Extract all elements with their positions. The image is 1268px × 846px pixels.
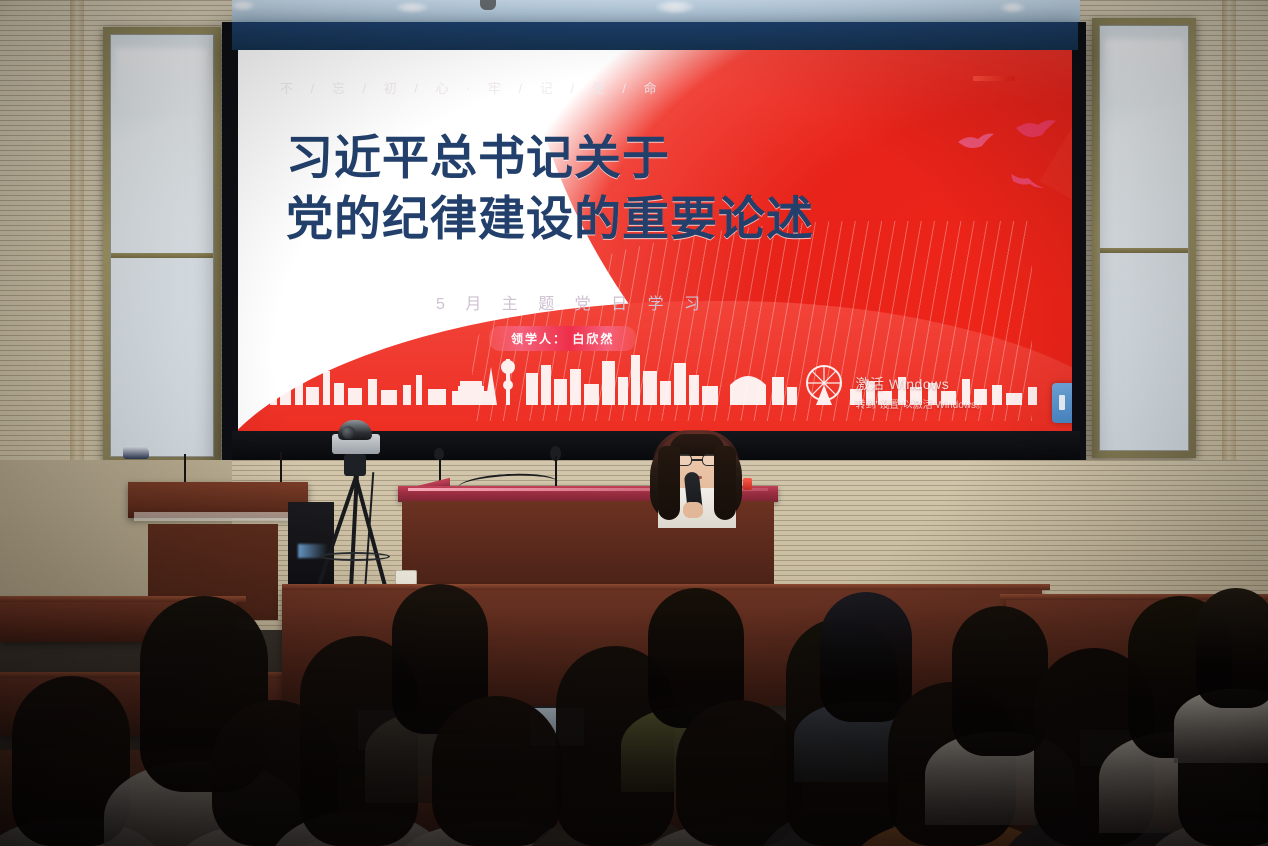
presenter-person [636, 424, 756, 524]
left-window-glass [110, 34, 214, 457]
ceiling-spotlight [1000, 2, 1026, 13]
wall-outlet [395, 570, 417, 585]
ceiling-camera-icon [480, 0, 496, 10]
window-glint [1104, 39, 1185, 107]
left-window [103, 27, 221, 464]
lectern-mic-stem [280, 452, 282, 484]
watermark-line-1: 激活 Windows [856, 374, 986, 394]
glasses-icon [676, 454, 718, 466]
watermark-line-2: 转到"设置"以激活 Windows。 [856, 396, 986, 411]
presenter-hair-strand [658, 446, 680, 520]
audience-person [1196, 588, 1268, 708]
presenter-hair-strand [714, 446, 736, 520]
screen-side-tab-icon[interactable] [1052, 383, 1072, 423]
presenter-hand [683, 502, 703, 518]
lecture-hall-scene: 不 / 忘 / 初 / 心 · 牢 / 记 / 使 / 命 习近平总书记关于 党… [0, 0, 1268, 846]
projection-screen[interactable]: 不 / 忘 / 初 / 心 · 牢 / 记 / 使 / 命 习近平总书记关于 党… [238, 50, 1072, 431]
audience-person [432, 696, 562, 846]
window-glint [115, 48, 209, 115]
audience-hair [432, 696, 562, 846]
audience-hair [1196, 588, 1268, 708]
slide-title-line2: 党的纪律建设的重要论述 [286, 189, 966, 250]
lectern-top-edge [134, 512, 302, 521]
dove-icon [1008, 166, 1048, 192]
glasses-bridge [692, 459, 702, 461]
right-window [1092, 18, 1196, 458]
ceiling-spotlight [230, 0, 256, 11]
ceiling-spotlight [655, 0, 695, 14]
right-window-glass [1099, 25, 1189, 451]
slide-kicker: 不 / 忘 / 初 / 心 · 牢 / 记 / 使 / 命 [280, 78, 664, 97]
window-mullion [1100, 248, 1188, 253]
presenter-badge: 领学人： 白欣然 [489, 326, 636, 351]
presentation-slide: 不 / 忘 / 初 / 心 · 牢 / 记 / 使 / 命 习近平总书记关于 党… [238, 50, 1072, 431]
window-mullion [111, 253, 213, 258]
ceiling-spotlight [395, 2, 429, 13]
screen-top-band [232, 22, 1078, 50]
dove-icon [1014, 116, 1058, 142]
windows-activation-watermark: 激活 Windows 转到"设置"以激活 Windows。 [856, 374, 986, 411]
slide-title-line1: 习近平总书记关于 [286, 131, 670, 186]
slide-accent-bar [973, 76, 1015, 81]
lectern-mic-stem [184, 454, 186, 484]
tripod-head [344, 454, 366, 476]
slide-title: 习近平总书记关于 党的纪律建设的重要论述 [286, 128, 966, 250]
slide-subtitle: 5 月 主 题 党 日 学 习 [436, 290, 708, 314]
tripod-spreader [320, 552, 390, 561]
camera-lens-icon [342, 426, 355, 439]
window-ledge-object [123, 446, 149, 459]
